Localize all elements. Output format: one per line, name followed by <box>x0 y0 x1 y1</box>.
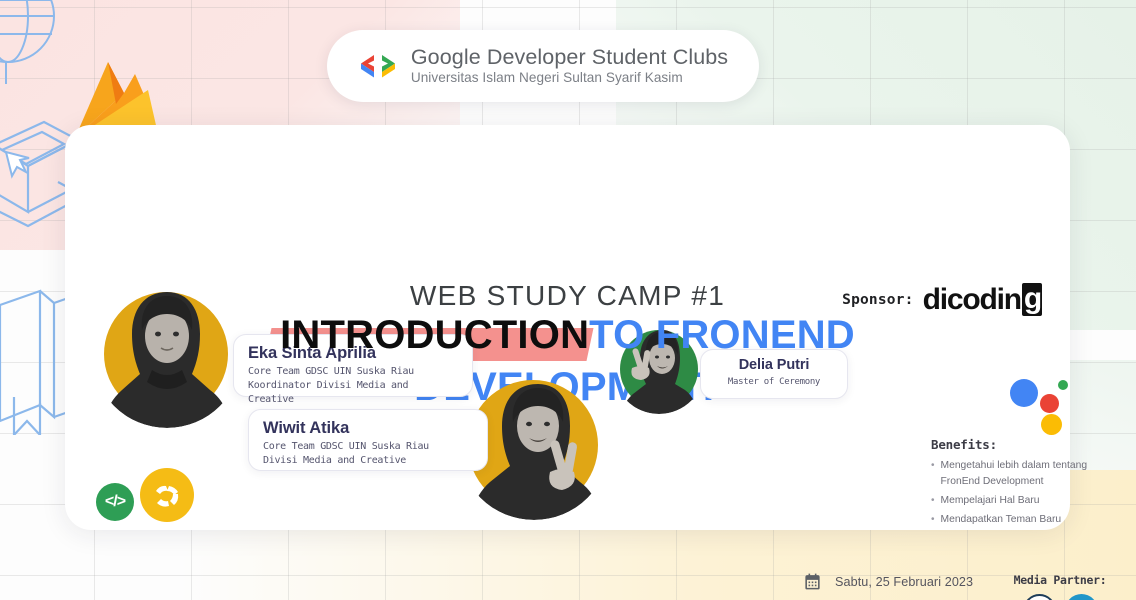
gdsc-text-block: Google Developer Student Clubs Universit… <box>411 45 728 87</box>
media-partner-block: Media Partner: HIMATIF d <box>1004 573 1116 600</box>
title-word-introduction: INTRODUCTION <box>280 313 589 357</box>
himatif-logo: HIMATIF <box>1023 594 1056 600</box>
assistant-dot-green <box>1058 380 1068 390</box>
gdsc-badge-icon <box>152 480 182 510</box>
media-partner-logos: HIMATIF d <box>1004 594 1116 600</box>
speaker-name: Wiwit Atika <box>263 419 473 438</box>
sponsor-label: Sponsor: <box>842 292 913 308</box>
event-poster: WEB STUDY CAMP #1 INTRODUCTIONTO FRONEND… <box>0 0 1136 600</box>
gdsc-title: Google Developer Student Clubs <box>411 45 728 69</box>
globe-doodle <box>0 0 110 98</box>
dicoding-circle-logo: d <box>1065 594 1098 600</box>
speaker-card-2: Wiwit Atika Core Team GDSC UIN Suska Ria… <box>248 409 488 471</box>
detail-row-date: Sabtu, 25 Februari 2023 <box>803 572 973 591</box>
benefit-item: • Mendapatkan Teman Baru <box>931 512 1121 528</box>
speaker-role-line-1: Core Team GDSC UIN Suska Riau <box>263 440 473 454</box>
google-assistant-icon <box>1010 375 1074 425</box>
benefit-item: • Mengetahui lebih dalam tentang FronEnd… <box>931 458 1121 490</box>
speaker-role-line-2: Divisi Media and Creative <box>263 454 473 468</box>
detail-date-text: Sabtu, 25 Februari 2023 <box>835 575 973 589</box>
speaker-photo-eka-sinta-aprilia <box>92 278 242 428</box>
speaker-role-line-2: Koordinator Divisi Media and Creative <box>248 379 458 407</box>
speaker-role-line-1: Master of Ceremony <box>711 376 837 389</box>
bullet-icon: • <box>931 458 935 490</box>
assistant-dot-blue <box>1010 379 1038 407</box>
benefit-item: • Mempelajari Hal Baru <box>931 493 1121 509</box>
main-title-line-1: INTRODUCTIONTO FRONEND <box>280 315 855 355</box>
sponsor-block: Sponsor: dicoding <box>842 283 1042 316</box>
event-details-block: Sabtu, 25 Februari 2023 09.30 WIB - Sele… <box>803 572 973 600</box>
code-badge: </> <box>96 483 134 521</box>
benefit-text: Mendapatkan Teman Baru <box>941 512 1062 528</box>
bullet-icon: • <box>931 512 935 528</box>
benefit-text: Mengetahui lebih dalam tentang FronEnd D… <box>941 458 1121 490</box>
speaker-role-line-1: Core Team GDSC UIN Suska Riau <box>248 365 458 379</box>
assistant-dot-red <box>1040 394 1059 413</box>
speaker-name: Delia Putri <box>711 357 837 374</box>
benefit-text: Mempelajari Hal Baru <box>941 493 1040 509</box>
gdsc-badge <box>140 468 194 522</box>
dicoding-logo: dicoding <box>923 283 1042 316</box>
title-word-to-fronend: TO FRONEND <box>589 313 855 357</box>
calendar-icon <box>803 572 822 591</box>
gdsc-header-pill: Google Developer Student Clubs Universit… <box>327 30 759 102</box>
dicoding-logo-g: g <box>1022 283 1042 316</box>
gdsc-subtitle: Universitas Islam Negeri Sultan Syarif K… <box>411 70 683 87</box>
benefits-block: Benefits: • Mengetahui lebih dalam tenta… <box>931 437 1121 531</box>
bullet-icon: • <box>931 493 935 509</box>
dicoding-wordmark: dicodin <box>923 285 1021 315</box>
gdsc-code-brackets-icon <box>358 53 400 79</box>
benefits-title: Benefits: <box>931 437 1121 452</box>
media-partner-title: Media Partner: <box>1004 573 1116 587</box>
assistant-dot-yellow <box>1041 414 1062 435</box>
